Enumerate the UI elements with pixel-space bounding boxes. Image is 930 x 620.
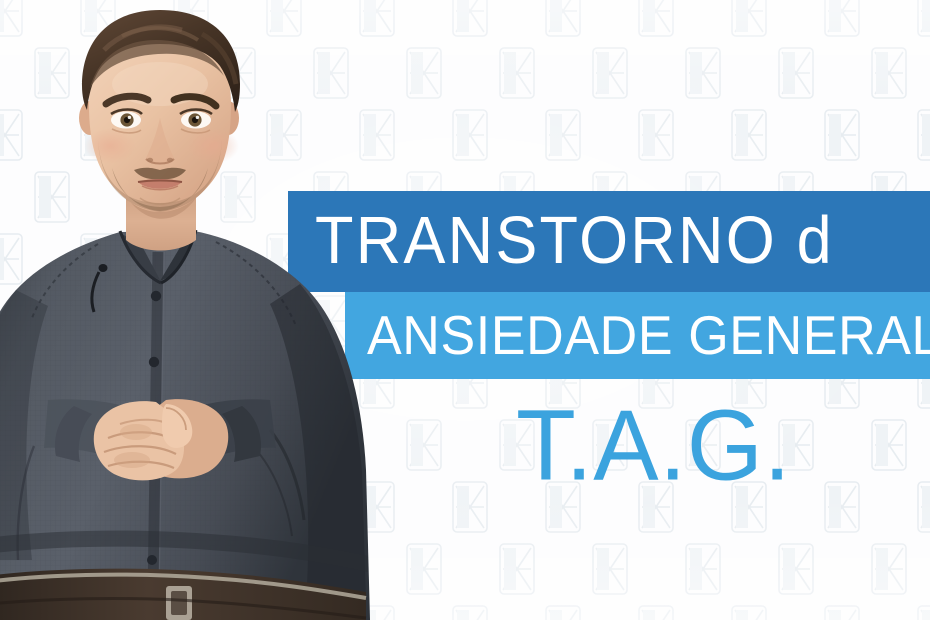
presenter-figure — [0, 0, 400, 620]
title-banner-secondary-text: ANSIEDADE GENERALIZA — [345, 308, 930, 363]
presenter-head — [79, 10, 240, 212]
title-banner-secondary: ANSIEDADE GENERALIZA — [345, 292, 930, 379]
acronym-label: T.A.G. — [516, 395, 791, 495]
video-thumbnail-frame: TRANSTORNO d ANSIEDADE GENERALIZA T.A.G. — [0, 0, 930, 620]
